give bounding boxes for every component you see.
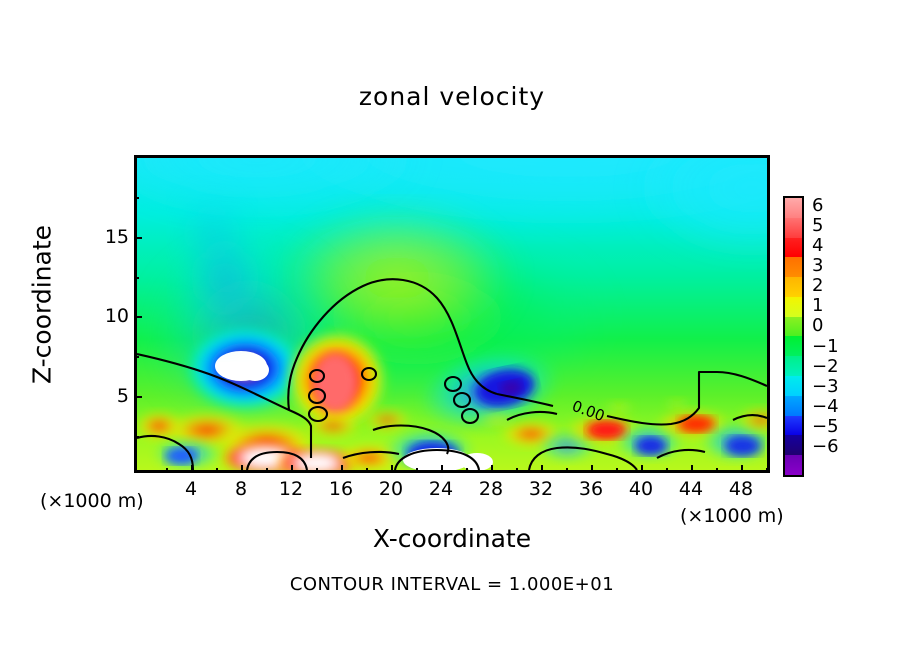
colorbar-band--6 <box>785 435 802 455</box>
colorbar-tick-neg2: −2 <box>812 356 839 377</box>
colorbar-tick-neg3: −3 <box>812 376 839 397</box>
colorbar-tick-5: 5 <box>812 215 823 236</box>
colorbar-band-2 <box>785 277 802 297</box>
colorbar-band-4 <box>785 238 802 258</box>
colorbar-tick-1: 1 <box>812 295 823 316</box>
colorbar-tick-neg5: −5 <box>812 416 839 437</box>
contour-field: 0.00 <box>137 158 767 470</box>
colorbar[interactable] <box>783 196 804 477</box>
colorbar-band-0 <box>785 317 802 337</box>
y-tick-label-15: 15 <box>89 226 129 248</box>
colorbar-band--1 <box>785 336 802 356</box>
page-title: zonal velocity <box>0 82 904 111</box>
colorbar-tick-4: 4 <box>812 235 823 256</box>
colorbar-tick-0: 0 <box>812 315 823 336</box>
colorbar-band--4 <box>785 396 802 416</box>
colorbar-tick-neg6: −6 <box>812 436 839 457</box>
colorbar-band--2 <box>785 356 802 376</box>
y-tick-label-5: 5 <box>89 385 129 407</box>
colorbar-band--3 <box>785 376 802 396</box>
colorbar-tick-neg4: −4 <box>812 396 839 417</box>
contour-interval-caption: CONTOUR INTERVAL = 1.000E+01 <box>0 574 904 595</box>
colorbar-tick-neg1: −1 <box>812 336 839 357</box>
y-tick-label-10: 10 <box>89 305 129 327</box>
x-axis-label: X-coordinate <box>0 524 904 553</box>
x-unit-label: (×1000 m) <box>680 505 784 527</box>
y-axis-label: Z-coordinate <box>28 205 57 405</box>
z-unit-label: (×1000 m) <box>40 490 144 512</box>
colorbar-band--5 <box>785 416 802 436</box>
colorbar-tick-6: 6 <box>812 195 823 216</box>
colorbar-band-5 <box>785 218 802 238</box>
x-tick-label-48: 48 <box>711 478 771 500</box>
colorbar-tick-3: 3 <box>812 255 823 276</box>
contour-plot-area[interactable]: 0.00 <box>134 155 770 473</box>
colorbar-band-6 <box>785 198 802 218</box>
colorbar-band--7 <box>785 455 802 475</box>
colorbar-tick-2: 2 <box>812 275 823 296</box>
colorbar-band-1 <box>785 297 802 317</box>
colorbar-band-3 <box>785 257 802 277</box>
